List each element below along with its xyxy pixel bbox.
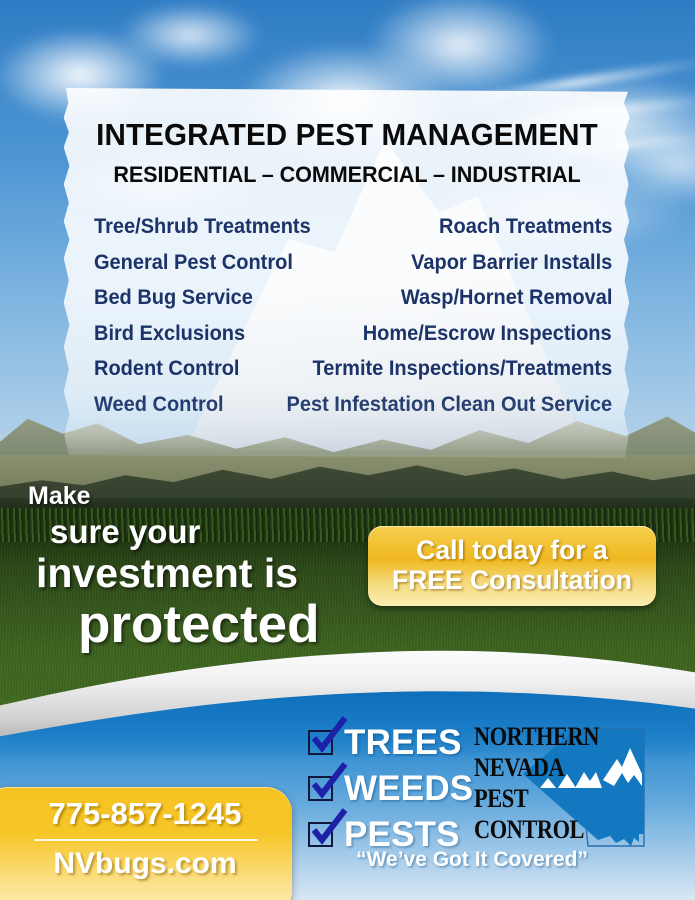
service-item: Pest Infestation Clean Out Service	[286, 392, 612, 417]
checkbox-icon	[308, 776, 333, 801]
service-item: Home/Escrow Inspections	[363, 321, 612, 346]
service-item: Vapor Barrier Installs	[411, 250, 612, 275]
service-row: Bird Exclusions Home/Escrow Inspections	[94, 321, 612, 357]
service-row: Weed Control Pest Infestation Clean Out …	[94, 392, 612, 428]
checkbox-icon	[308, 730, 333, 755]
checklist-label: PESTS	[344, 817, 460, 852]
cta-line-1: Call today for a	[416, 536, 607, 566]
poster-advertisement: INTEGRATED PEST MANAGEMENT RESIDENTIAL –…	[0, 0, 695, 900]
checkmark-icon	[309, 716, 349, 756]
logo-line-3: PEST	[474, 786, 528, 812]
slogan-line-3: investment is	[36, 553, 360, 594]
service-item: Termite Inspections/Treatments	[312, 356, 612, 381]
service-item: Bird Exclusions	[94, 321, 245, 346]
page-subtitle: RESIDENTIAL – COMMERCIAL – INDUSTRIAL	[73, 162, 620, 188]
services-list: Tree/Shrub Treatments Roach Treatments G…	[94, 214, 612, 427]
service-item: Rodent Control	[94, 356, 240, 381]
logo-line-4: CONTROL	[474, 817, 584, 843]
slogan-line-4: protected	[78, 598, 360, 651]
checklist-item-weeds: WEEDS	[308, 768, 473, 809]
company-tagline: “We’ve Got It Covered”	[322, 848, 622, 872]
service-item: Roach Treatments	[439, 214, 612, 239]
phone-number[interactable]: 775-857-1245	[0, 796, 292, 832]
services-panel: INTEGRATED PEST MANAGEMENT RESIDENTIAL –…	[62, 88, 632, 458]
service-row: Bed Bug Service Wasp/Hornet Removal	[94, 285, 612, 321]
service-item: Tree/Shrub Treatments	[94, 214, 311, 239]
checklist-label: TREES	[344, 725, 462, 760]
service-item: Bed Bug Service	[94, 285, 253, 310]
checklist-item-trees: TREES	[308, 722, 473, 763]
checkmark-icon	[309, 762, 349, 802]
slogan-block: Make sure your investment is protected	[0, 484, 360, 651]
service-item: Wasp/Hornet Removal	[401, 285, 612, 310]
slogan-line-2: sure your	[50, 515, 360, 548]
service-row: General Pest Control Vapor Barrier Insta…	[94, 250, 612, 286]
service-row: Tree/Shrub Treatments Roach Treatments	[94, 214, 612, 250]
checkbox-icon	[308, 822, 333, 847]
page-title: INTEGRATED PEST MANAGEMENT	[71, 118, 624, 153]
logo-line-1: NORTHERN	[474, 724, 599, 750]
logo-line-2: NEVADA	[474, 755, 564, 781]
service-item: Weed Control	[94, 392, 224, 417]
contact-divider	[34, 839, 258, 841]
service-row: Rodent Control Termite Inspections/Treat…	[94, 356, 612, 392]
website-link[interactable]: NVbugs.com	[0, 847, 292, 881]
checklist-label: WEEDS	[344, 771, 473, 806]
checkmark-icon	[309, 808, 349, 848]
cta-line-2: FREE Consultation	[392, 566, 632, 596]
contact-box[interactable]: 775-857-1245 NVbugs.com	[0, 787, 292, 900]
free-consultation-button[interactable]: Call today for a FREE Consultation	[368, 526, 656, 606]
slogan-line-1: Make	[28, 484, 360, 509]
service-item: General Pest Control	[94, 250, 293, 275]
checklist: TREES WEEDS PESTS	[308, 722, 473, 860]
company-logo[interactable]: NORTHERN NEVADA PEST CONTROL	[474, 722, 664, 850]
